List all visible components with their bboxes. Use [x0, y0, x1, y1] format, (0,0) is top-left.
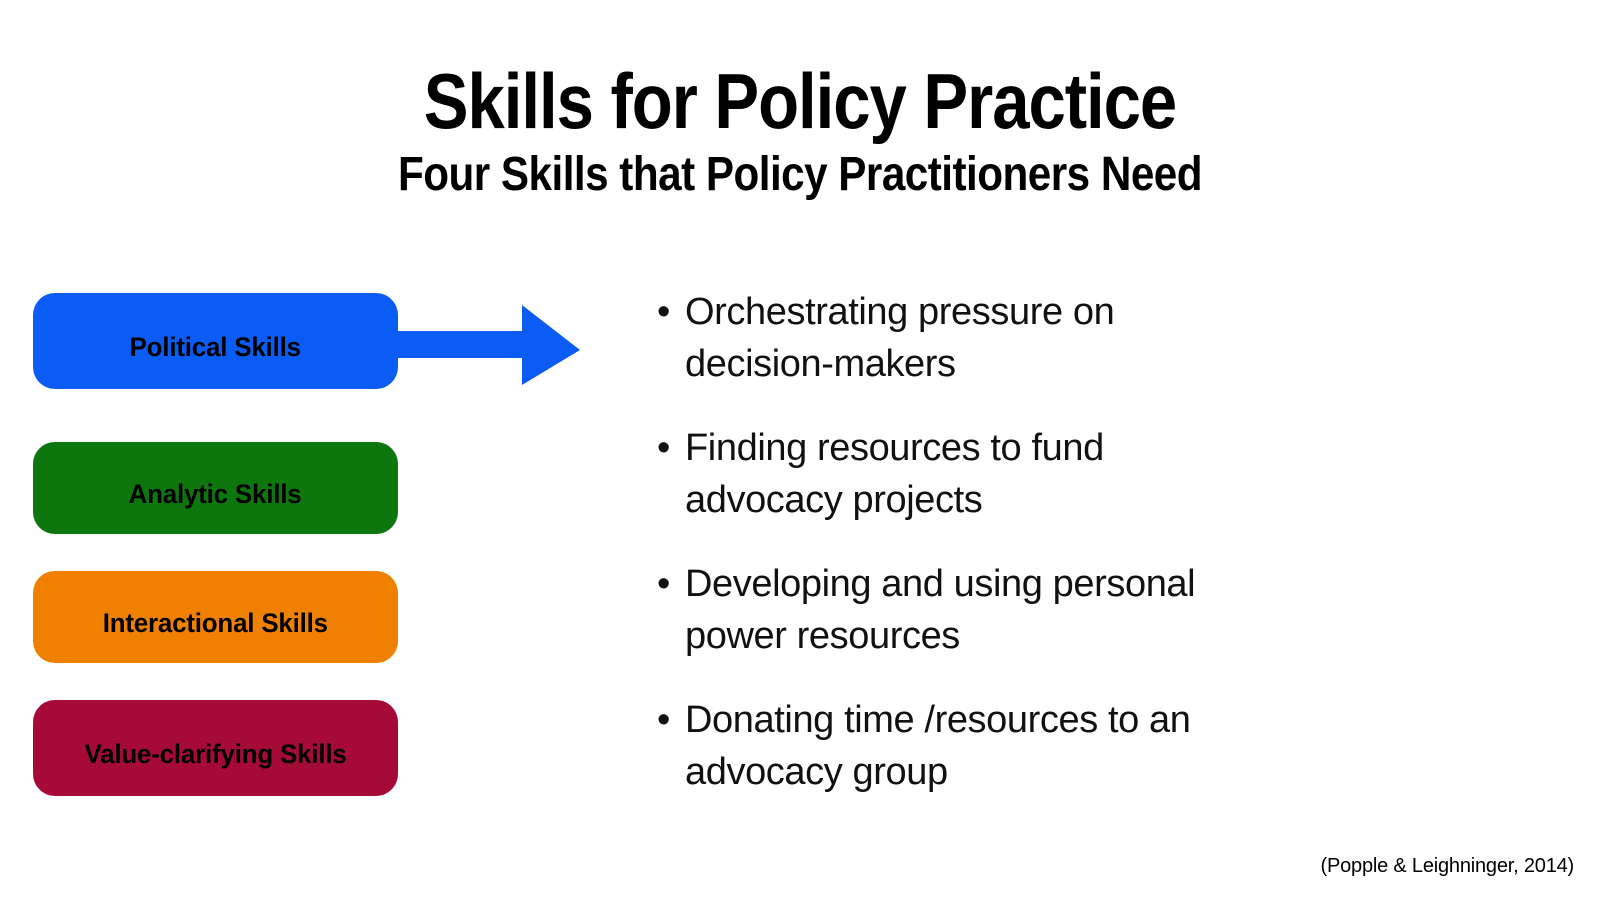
list-item: • Developing and using personal power re…: [655, 558, 1255, 662]
bullet-marker-icon: •: [657, 422, 687, 474]
right-arrow-icon: [390, 300, 580, 392]
list-item: • Orchestrating pressure on decision-mak…: [655, 286, 1255, 390]
bullet-marker-icon: •: [657, 286, 687, 338]
page-title: Skills for Policy Practice: [112, 58, 1488, 144]
bullet-marker-icon: •: [657, 558, 687, 610]
skill-box-political[interactable]: Political Skills: [33, 293, 398, 389]
list-item-text: Finding resources to fund advocacy proje…: [685, 422, 1255, 526]
citation-text: (Popple & Leighninger, 2014): [1321, 855, 1574, 878]
page-subtitle: Four Skills that Policy Practitioners Ne…: [96, 146, 1504, 204]
list-item-text: Orchestrating pressure on decision-maker…: [685, 286, 1255, 390]
bullet-list: • Orchestrating pressure on decision-mak…: [655, 286, 1255, 830]
bullet-marker-icon: •: [657, 694, 687, 746]
title-block: Skills for Policy Practice Four Skills t…: [0, 58, 1600, 204]
skill-box-label: Political Skills: [130, 332, 301, 363]
skill-box-value-clarifying[interactable]: Value-clarifying Skills: [33, 700, 398, 796]
skill-box-interactional[interactable]: Interactional Skills: [33, 571, 398, 663]
skill-box-label: Value-clarifying Skills: [84, 739, 346, 770]
skill-box-label: Analytic Skills: [129, 479, 302, 510]
list-item: • Donating time /resources to an advocac…: [655, 694, 1255, 798]
skill-box-analytic[interactable]: Analytic Skills: [33, 442, 398, 534]
list-item: • Finding resources to fund advocacy pro…: [655, 422, 1255, 526]
list-item-text: Donating time /resources to an advocacy …: [685, 694, 1255, 798]
slide-canvas: Skills for Policy Practice Four Skills t…: [0, 0, 1600, 900]
skill-box-label: Interactional Skills: [103, 608, 328, 639]
list-item-text: Developing and using personal power reso…: [685, 558, 1255, 662]
